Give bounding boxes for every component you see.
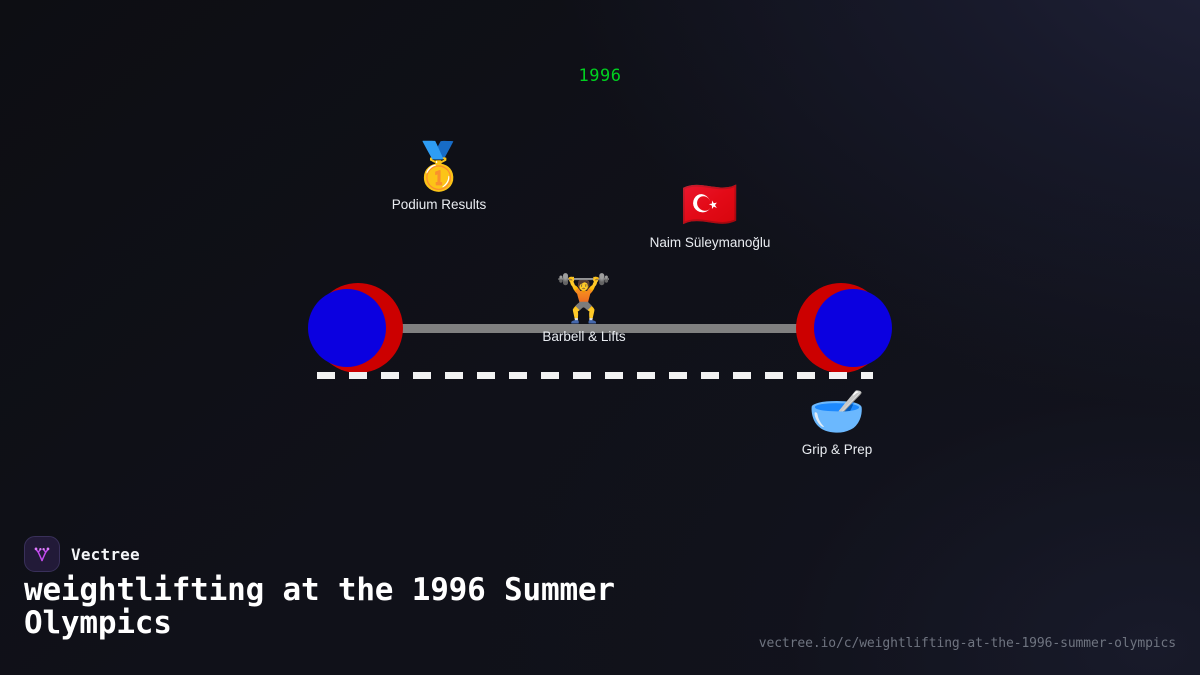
year-label: 1996 [0, 66, 1200, 86]
graph-item-label: Naim Süleymanoğlu [610, 234, 810, 251]
graph-item-label: Barbell & Lifts [484, 328, 684, 345]
bowl-with-spoon-icon: 🥣 [737, 385, 937, 437]
vectree-logo-icon [24, 536, 60, 572]
graph-item-podium-results[interactable]: 🥇 Podium Results [339, 140, 539, 213]
page-url: vectree.io/c/weightlifting-at-the-1996-s… [759, 636, 1176, 651]
graph-item-barbell-and-lifts[interactable]: 🏋️ Barbell & Lifts [484, 272, 684, 345]
brand-row[interactable]: Vectree [24, 536, 140, 572]
right-node-inner-disc [814, 289, 892, 367]
brand-name: Vectree [71, 545, 140, 564]
page-title: weightlifting at the 1996 Summer Olympic… [24, 574, 744, 640]
screenshot-root: 1996 🥇 Podium Results 🇹🇷 Naim Süleymanoğ… [0, 0, 1200, 675]
left-node-inner-disc [308, 289, 386, 367]
turkey-flag-icon: 🇹🇷 [610, 178, 810, 230]
footer: Vectree weightlifting at the 1996 Summer… [0, 530, 1200, 675]
gold-medal-icon: 🥇 [339, 140, 539, 192]
graph-item-grip-and-prep[interactable]: 🥣 Grip & Prep [737, 385, 937, 458]
graph-item-naim-suleymanoglu[interactable]: 🇹🇷 Naim Süleymanoğlu [610, 178, 810, 251]
graph-item-label: Grip & Prep [737, 441, 937, 458]
dashed-separator [317, 372, 873, 379]
weightlifter-icon: 🏋️ [484, 272, 684, 324]
graph-item-label: Podium Results [339, 196, 539, 213]
